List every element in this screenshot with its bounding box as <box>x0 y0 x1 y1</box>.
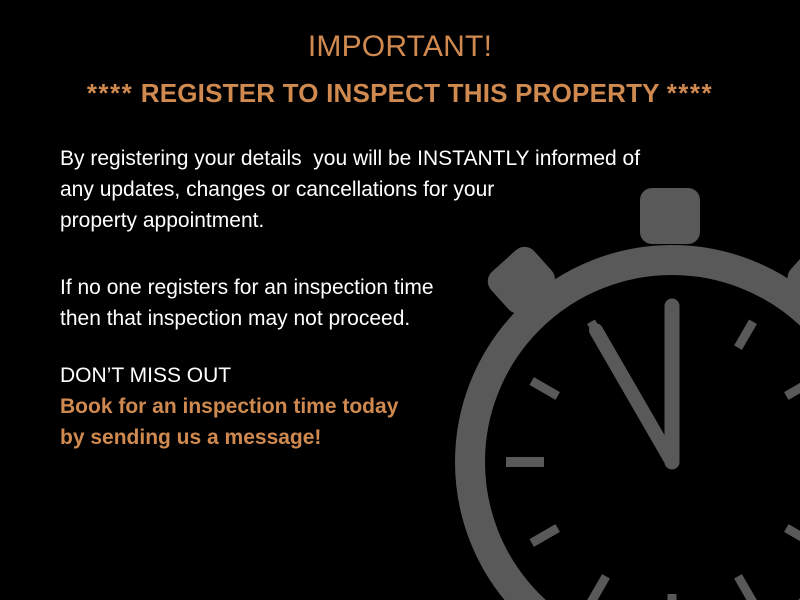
cta-dont-miss-out: DON’T MISS OUT <box>60 360 398 391</box>
cta-send-message: by sending us a message! <box>60 422 398 453</box>
promo-slide: IMPORTANT! **** REGISTER TO INSPECT THIS… <box>0 0 800 600</box>
subtitle-text: REGISTER TO INSPECT THIS PROPERTY <box>141 78 660 108</box>
cta-book-inspection: Book for an inspection time today <box>60 391 398 422</box>
paragraph-registering-benefits: By registering your details you will be … <box>60 143 640 236</box>
paragraph-no-registration-warning: If no one registers for an inspection ti… <box>60 272 434 334</box>
subtitle-stars-left: **** <box>87 78 133 108</box>
subtitle-stars-right: **** <box>667 78 713 108</box>
page-subtitle: **** REGISTER TO INSPECT THIS PROPERTY *… <box>0 76 800 110</box>
call-to-action-block: DON’T MISS OUT Book for an inspection ti… <box>60 360 398 453</box>
page-title: IMPORTANT! <box>0 28 800 66</box>
slide-text-layer: IMPORTANT! **** REGISTER TO INSPECT THIS… <box>0 0 800 600</box>
